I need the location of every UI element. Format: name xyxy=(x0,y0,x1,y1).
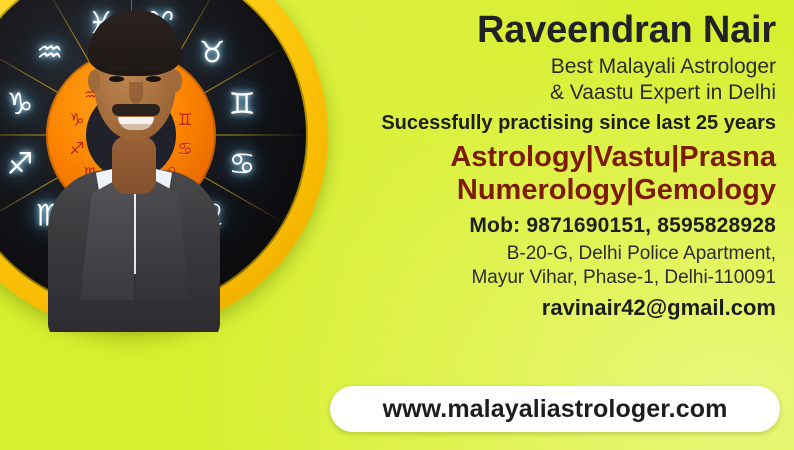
subtitle-line-2: & Vaastu Expert in Delhi xyxy=(306,80,776,106)
zodiac-figure-scorpio-icon: ♏ xyxy=(27,193,73,239)
astrologer-name: Raveendran Nair xyxy=(306,8,776,52)
zodiac-wheel-disc: ♈♉♊♋♌♍♎♏♐♑♒♓ ♈♉♊♋♌♍♎♏♐♑♒♓ xyxy=(0,0,328,332)
card-text-block: Raveendran Nair Best Malayali Astrologer… xyxy=(306,0,776,321)
services-line-1: Astrology|Vastu|Prasna xyxy=(306,141,776,174)
services-line-2: Numerology|Gemology xyxy=(306,174,776,207)
business-card: ♈♉♊♋♌♍♎♏♐♑♒♓ ♈♉♊♋♌♍♎♏♐♑♒♓ xyxy=(0,0,794,450)
address-line-1: B-20-G, Delhi Police Apartment, xyxy=(306,242,776,266)
zodiac-figure-virgo-icon: ♍ xyxy=(138,223,184,269)
wheel-center-disc xyxy=(86,90,176,180)
zodiac-figure-aquarius-icon: ♒ xyxy=(27,31,73,77)
zodiac-figure-pisces-icon: ♓ xyxy=(78,1,124,47)
subtitle-line-1: Best Malayali Astrologer xyxy=(306,54,776,80)
zodiac-wheel: ♈♉♊♋♌♍♎♏♐♑♒♓ ♈♉♊♋♌♍♎♏♐♑♒♓ xyxy=(0,0,328,332)
website-url[interactable]: www.malayaliastrologer.com xyxy=(383,395,728,424)
zodiac-figure-cancer-icon: ♋ xyxy=(219,142,265,188)
address-line-2: Mayur Vihar, Phase-1, Delhi-110091 xyxy=(306,266,776,290)
zodiac-figure-taurus-icon: ♉ xyxy=(189,31,235,77)
zodiac-figure-libra-icon: ♎ xyxy=(78,223,124,269)
website-banner[interactable]: www.malayaliastrologer.com xyxy=(330,386,780,432)
mobile-numbers[interactable]: Mob: 9871690151, 8595828928 xyxy=(306,213,776,239)
zodiac-figure-aries-icon: ♈ xyxy=(138,1,184,47)
email-address[interactable]: ravinair42@gmail.com xyxy=(306,294,776,321)
zodiac-figure-gemini-icon: ♊ xyxy=(219,82,265,128)
zodiac-figure-sagittarius-icon: ♐ xyxy=(0,142,43,188)
zodiac-figure-leo-icon: ♌ xyxy=(189,193,235,239)
experience-tagline: Sucessfully practising since last 25 yea… xyxy=(306,111,776,135)
zodiac-figure-capricorn-icon: ♑ xyxy=(0,82,43,128)
